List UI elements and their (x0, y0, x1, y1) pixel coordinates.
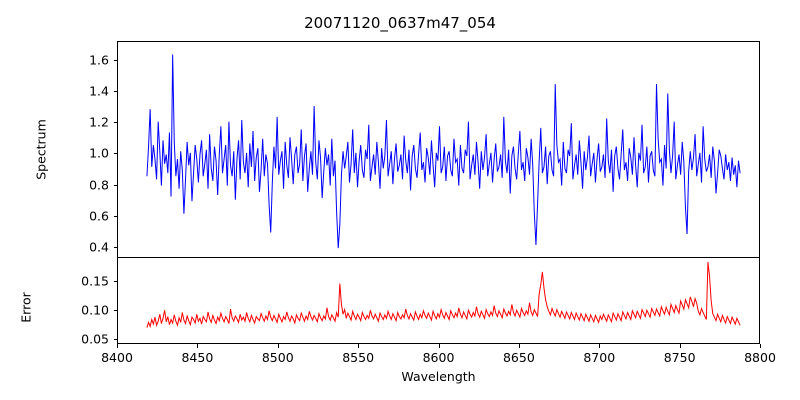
y-ticklabel-spectrum: 1.2 (65, 115, 109, 130)
figure-title: 20071120_0637m47_054 (0, 14, 800, 32)
y-tick-spectrum (114, 247, 118, 248)
y-tick-spectrum (114, 91, 118, 92)
x-ticklabel: 8800 (744, 350, 776, 365)
y-ticklabel-spectrum: 1.0 (65, 146, 109, 161)
figure-canvas: 20071120_0637m47_054 0.40.60.81.01.21.41… (0, 0, 800, 400)
x-ticklabel: 8600 (423, 350, 455, 365)
spectrum-plot-area (117, 41, 760, 258)
y-ticklabel-spectrum: 0.4 (65, 240, 109, 255)
error-line-series (118, 258, 760, 344)
x-ticklabel: 8750 (664, 350, 696, 365)
y-ticklabel-spectrum: 0.6 (65, 208, 109, 223)
x-axis-label-wavelength: Wavelength (117, 369, 760, 384)
x-ticklabel: 8400 (101, 350, 133, 365)
x-ticklabel: 8450 (181, 350, 213, 365)
x-tick (680, 344, 681, 348)
x-ticklabel: 8700 (583, 350, 615, 365)
y-tick-error (114, 310, 118, 311)
y-ticklabel-spectrum: 1.4 (65, 83, 109, 98)
spectrum-line-series (118, 42, 760, 258)
y-tick-spectrum (114, 60, 118, 61)
y-ticklabel-spectrum: 1.6 (65, 52, 109, 67)
x-tick (599, 344, 600, 348)
x-ticklabel: 8500 (262, 350, 294, 365)
error-plot-area (117, 257, 760, 344)
y-axis-label-spectrum: Spectrum (34, 90, 49, 210)
x-tick (278, 344, 279, 348)
x-tick (197, 344, 198, 348)
x-tick (117, 344, 118, 348)
y-tick-spectrum (114, 153, 118, 154)
y-tick-error (114, 339, 118, 340)
x-tick (760, 344, 761, 348)
x-tick (439, 344, 440, 348)
x-tick (519, 344, 520, 348)
y-tick-spectrum (114, 185, 118, 186)
y-ticklabel-error: 0.10 (65, 303, 109, 318)
y-ticklabel-error: 0.05 (65, 332, 109, 347)
x-tick (358, 344, 359, 348)
x-ticklabel: 8550 (342, 350, 374, 365)
y-ticklabel-spectrum: 0.8 (65, 177, 109, 192)
y-axis-label-error: Error (19, 273, 34, 343)
y-tick-spectrum (114, 122, 118, 123)
y-tick-spectrum (114, 216, 118, 217)
y-ticklabel-error: 0.15 (65, 274, 109, 289)
y-tick-error (114, 281, 118, 282)
x-ticklabel: 8650 (503, 350, 535, 365)
